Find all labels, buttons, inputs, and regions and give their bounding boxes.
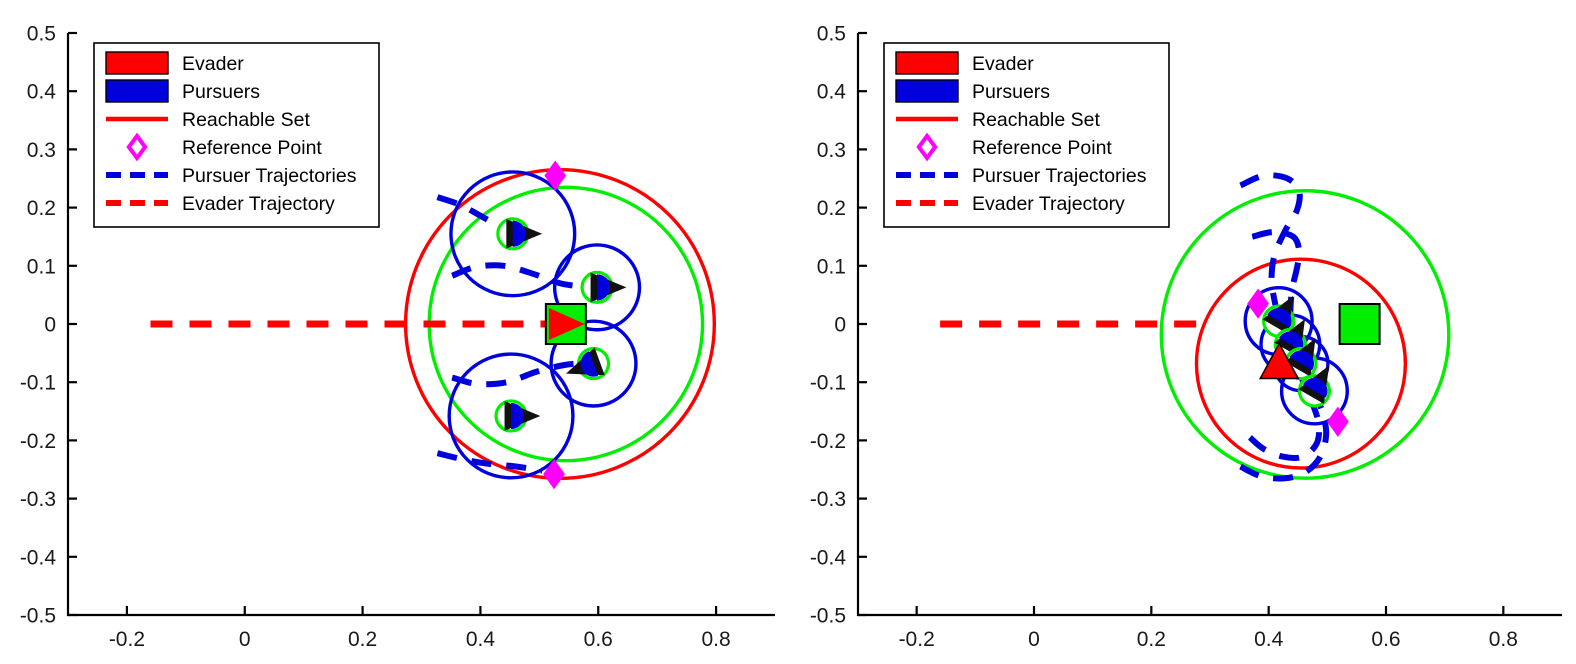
legend-label: Pursuer Trajectories — [972, 165, 1147, 187]
legend-label: Evader — [972, 53, 1034, 75]
legend-label: Reachable Set — [182, 109, 311, 131]
legend-label: Pursuer Trajectories — [182, 165, 357, 187]
y-tick-label: 0.3 — [817, 139, 846, 162]
y-tick-label: 0.3 — [27, 139, 56, 162]
y-tick-label: -0.4 — [810, 546, 847, 569]
x-tick-label: -0.2 — [109, 628, 145, 651]
y-tick-label: 0.4 — [817, 81, 847, 104]
y-tick-label: 0 — [834, 314, 846, 337]
y-tick-label: 0.5 — [817, 23, 846, 46]
y-tick-label: -0.5 — [20, 605, 56, 628]
y-tick-label: -0.1 — [20, 372, 56, 395]
legend-label: Pursuers — [182, 81, 260, 103]
y-tick-label: 0.1 — [27, 255, 56, 278]
x-tick-label: 0.8 — [1489, 628, 1518, 651]
x-tick-label: 0.6 — [584, 628, 613, 651]
x-tick-label: 0.4 — [1254, 628, 1284, 651]
plot-panel-final: 0.50.40.30.20.10-0.1-0.2-0.3-0.4-0.5-0.2… — [790, 0, 1576, 664]
y-tick-label: 0 — [44, 314, 56, 337]
evader-marker — [546, 304, 586, 344]
figure-root: 0.50.40.30.20.10-0.1-0.2-0.3-0.4-0.5-0.2… — [0, 0, 1576, 664]
green-boundary-circle — [1161, 191, 1448, 478]
legend-label: Evader Trajectory — [182, 193, 335, 215]
x-tick-label: 0.6 — [1371, 628, 1400, 651]
pursuer-marker — [498, 219, 541, 249]
y-tick-label: -0.2 — [810, 430, 846, 453]
pursuer-marker — [496, 401, 539, 431]
legend: EvaderPursuersReachable SetReference Poi… — [884, 43, 1169, 227]
x-tick-label: 0.2 — [348, 628, 377, 651]
evader-marker — [1340, 304, 1380, 344]
legend-label: Evader Trajectory — [972, 193, 1125, 215]
legend-label: Reference Point — [972, 137, 1112, 159]
x-tick-label: -0.2 — [899, 628, 935, 651]
x-tick-label: 0.2 — [1137, 628, 1166, 651]
y-tick-label: 0.1 — [817, 255, 846, 278]
y-tick-label: -0.3 — [20, 488, 56, 511]
y-tick-label: -0.3 — [810, 488, 846, 511]
legend-label: Reachable Set — [972, 109, 1101, 131]
y-tick-label: 0.2 — [27, 197, 56, 220]
y-tick-label: 0.4 — [27, 81, 57, 104]
evader-square — [1340, 304, 1380, 344]
legend-swatch-patch — [106, 80, 168, 102]
legend-label: Evader — [182, 53, 244, 75]
y-tick-label: -0.2 — [20, 430, 56, 453]
reference-point-diamond — [1329, 409, 1348, 435]
plot-panel-initial: 0.50.40.30.20.10-0.1-0.2-0.3-0.4-0.5-0.2… — [0, 0, 790, 664]
plot-svg-0: 0.50.40.30.20.10-0.1-0.2-0.3-0.4-0.5-0.2… — [0, 0, 790, 664]
y-tick-label: 0.2 — [817, 197, 846, 220]
x-tick-label: 0 — [1028, 628, 1040, 651]
y-tick-label: -0.1 — [810, 372, 846, 395]
legend: EvaderPursuersReachable SetReference Poi… — [94, 43, 379, 227]
plot-svg-1: 0.50.40.30.20.10-0.1-0.2-0.3-0.4-0.5-0.2… — [790, 0, 1576, 664]
legend-label: Reference Point — [182, 137, 322, 159]
legend-swatch-patch — [896, 52, 958, 74]
legend-swatch-patch — [106, 52, 168, 74]
pursuer-marker — [582, 272, 625, 302]
x-tick-label: 0.4 — [466, 628, 496, 651]
x-tick-label: 0 — [239, 628, 251, 651]
y-tick-label: -0.4 — [20, 546, 57, 569]
y-tick-label: -0.5 — [810, 605, 846, 628]
x-tick-label: 0.8 — [701, 628, 730, 651]
legend-label: Pursuers — [972, 81, 1050, 103]
legend-swatch-patch — [896, 80, 958, 102]
y-tick-label: 0.5 — [27, 23, 56, 46]
